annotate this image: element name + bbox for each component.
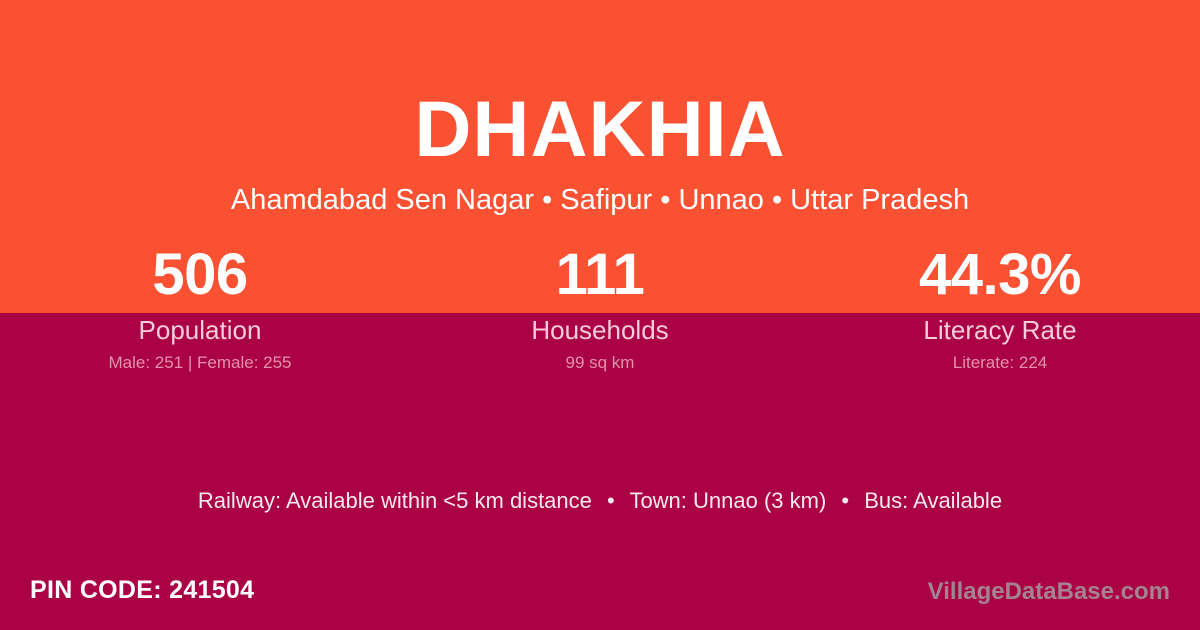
transport-separator-1: •: [598, 488, 624, 513]
transport-town: Town: Unnao (3 km): [629, 488, 826, 513]
transport-info: Railway: Available within <5 km distance…: [0, 486, 1200, 516]
stat-literacy-rate: 44.3% Literacy Rate Literate: 224: [800, 240, 1200, 374]
stats-row: 506 Population Male: 251 | Female: 255 1…: [0, 240, 1200, 374]
transport-separator-2: •: [832, 488, 858, 513]
transport-bus: Bus: Available: [864, 488, 1002, 513]
site-brand: VillageDataBase.com: [928, 576, 1170, 608]
stat-households: 111 Households 99 sq km: [400, 240, 800, 374]
stat-label: Literacy Rate: [800, 314, 1200, 346]
stat-label: Population: [0, 314, 400, 346]
page-title: DHAKHIA: [0, 86, 1200, 172]
village-info-card: DHAKHIA Ahamdabad Sen Nagar • Safipur • …: [0, 0, 1200, 630]
pin-code: PIN CODE: 241504: [30, 574, 254, 606]
stat-value: 44.3%: [800, 240, 1200, 310]
stat-label: Households: [400, 314, 800, 346]
stat-value: 506: [0, 240, 400, 310]
transport-railway: Railway: Available within <5 km distance: [198, 488, 592, 513]
stat-population: 506 Population Male: 251 | Female: 255: [0, 240, 400, 374]
stat-sublabel: Literate: 224: [800, 352, 1200, 374]
footer: PIN CODE: 241504 VillageDataBase.com: [0, 572, 1200, 630]
breadcrumb: Ahamdabad Sen Nagar • Safipur • Unnao • …: [0, 182, 1200, 218]
stat-value: 111: [400, 240, 800, 310]
stat-sublabel: 99 sq km: [400, 352, 800, 374]
stat-sublabel: Male: 251 | Female: 255: [0, 352, 400, 374]
